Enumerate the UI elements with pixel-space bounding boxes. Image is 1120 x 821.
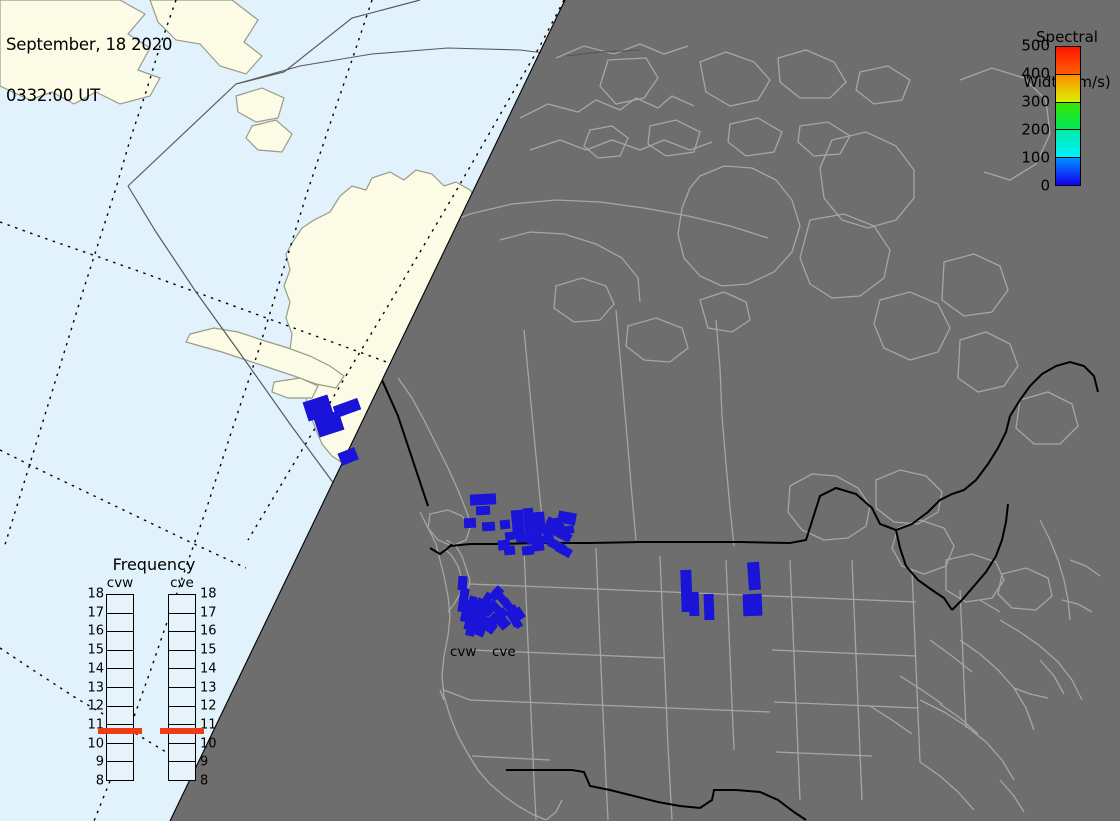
colorbar-segment-0-100 xyxy=(1056,158,1080,185)
timestamp-time: 0332:00 UT xyxy=(6,87,172,104)
colorbar-tick-labels: 5004003002001000 xyxy=(1014,46,1050,186)
frequency-tick-cvw-9: 9 xyxy=(96,756,104,769)
frequency-tick-cve-13: 13 xyxy=(200,681,217,694)
frequency-tick-cve-16: 16 xyxy=(200,625,217,638)
echo-cell xyxy=(500,519,511,529)
frequency-tick-cvw-14: 14 xyxy=(87,662,104,675)
frequency-cell xyxy=(169,651,195,670)
colorbar-tick-0: 0 xyxy=(1040,179,1050,194)
frequency-tick-cve-9: 9 xyxy=(200,756,208,769)
frequency-legend: Frequency cvw cve 18171615141312111098 1… xyxy=(84,556,224,791)
echo-cell xyxy=(505,531,516,540)
frequency-cell xyxy=(169,744,195,763)
echo-cell xyxy=(689,592,700,616)
echo-cell xyxy=(747,562,761,591)
site-label-cvw: cvw xyxy=(450,645,476,659)
frequency-ticks-cve: 18171615141312111098 xyxy=(198,594,220,781)
timestamp-date: September, 18 2020 xyxy=(6,36,172,53)
echo-cell xyxy=(504,545,516,555)
frequency-tick-cve-14: 14 xyxy=(200,662,217,675)
frequency-tick-cve-18: 18 xyxy=(200,588,217,601)
frequency-column-label-cvw: cvw xyxy=(100,576,140,590)
frequency-tick-cve-10: 10 xyxy=(200,737,217,750)
frequency-tick-cvw-16: 16 xyxy=(87,625,104,638)
frequency-column-label-cve: cve xyxy=(162,576,202,590)
echo-cell xyxy=(470,493,497,505)
frequency-cell xyxy=(107,651,133,670)
frequency-cell xyxy=(107,614,133,633)
colorbar-segment-100-200 xyxy=(1056,130,1080,158)
frequency-cell xyxy=(169,762,195,780)
frequency-cell xyxy=(107,669,133,688)
frequency-cell xyxy=(107,595,133,614)
frequency-tick-cve-17: 17 xyxy=(200,606,217,619)
echo-cell xyxy=(458,576,468,591)
echo-cell xyxy=(482,522,495,532)
colorbar-tick-100: 100 xyxy=(1021,151,1050,166)
frequency-tick-cve-8: 8 xyxy=(200,775,208,788)
echo-cell xyxy=(476,506,490,516)
frequency-legend-title: Frequency xyxy=(84,556,224,573)
frequency-bar-cve xyxy=(168,594,196,781)
frequency-tick-cve-12: 12 xyxy=(200,700,217,713)
frequency-cell xyxy=(107,688,133,707)
echo-cell xyxy=(704,594,715,620)
colorbar-tick-400: 400 xyxy=(1021,67,1050,82)
echo-cell xyxy=(532,541,545,551)
frequency-cell xyxy=(169,632,195,651)
frequency-marker-cvw xyxy=(98,728,142,734)
radar-fan-plot: September, 18 2020 0332:00 UT Spectral W… xyxy=(0,0,1120,821)
colorbar-segment-300-400 xyxy=(1056,75,1080,103)
colorbar-gradient xyxy=(1055,46,1081,186)
frequency-cell xyxy=(169,688,195,707)
frequency-tick-cvw-15: 15 xyxy=(87,644,104,657)
colorbar-segment-400-500 xyxy=(1056,47,1080,75)
frequency-tick-cvw-8: 8 xyxy=(96,775,104,788)
frequency-ticks-cvw: 18171615141312111098 xyxy=(84,594,106,781)
frequency-marker-cve xyxy=(160,728,204,734)
frequency-cell xyxy=(107,707,133,726)
frequency-bar-cvw xyxy=(106,594,134,781)
frequency-tick-cvw-18: 18 xyxy=(87,588,104,601)
frequency-cell xyxy=(169,707,195,726)
frequency-cell xyxy=(169,669,195,688)
colorbar-segment-200-300 xyxy=(1056,103,1080,131)
timestamp: September, 18 2020 0332:00 UT xyxy=(6,2,172,138)
frequency-cell xyxy=(169,614,195,633)
frequency-tick-cvw-17: 17 xyxy=(87,606,104,619)
spectral-width-colorbar: Spectral Width (m/s) 5004003002001000 xyxy=(1014,0,1120,200)
colorbar-tick-300: 300 xyxy=(1021,95,1050,110)
echo-cell xyxy=(464,518,477,529)
frequency-tick-cvw-12: 12 xyxy=(87,700,104,713)
frequency-tick-cve-15: 15 xyxy=(200,644,217,657)
colorbar-tick-500: 500 xyxy=(1021,39,1050,54)
site-label-cve: cve xyxy=(492,645,516,659)
frequency-cell xyxy=(169,595,195,614)
frequency-tick-cvw-10: 10 xyxy=(87,737,104,750)
frequency-cell xyxy=(107,632,133,651)
frequency-tick-cvw-13: 13 xyxy=(87,681,104,694)
frequency-cell xyxy=(107,744,133,763)
echo-cell xyxy=(743,594,763,617)
frequency-cell xyxy=(107,762,133,780)
colorbar-tick-200: 200 xyxy=(1021,123,1050,138)
